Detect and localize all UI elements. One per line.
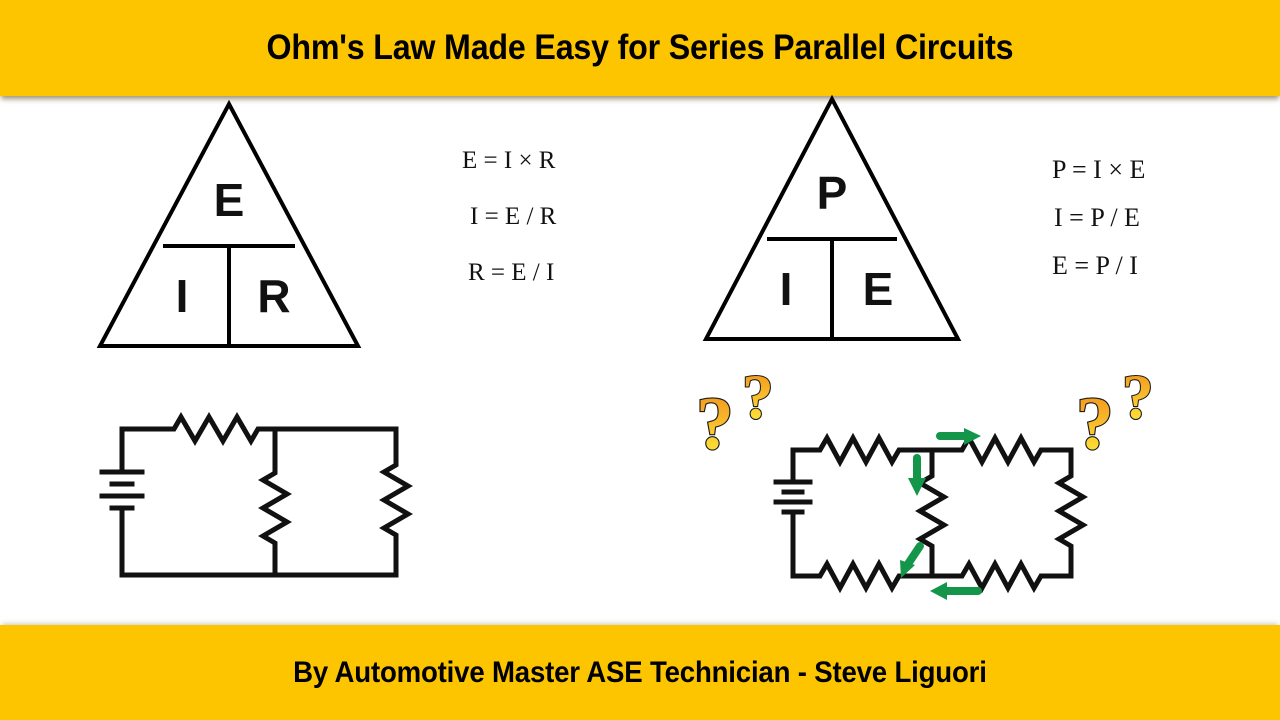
svg-text:?: ? bbox=[696, 383, 734, 466]
formula-p-equals-i-times-e: P = I × E bbox=[1052, 157, 1145, 183]
power-formulas: P = I × E I = P / E E = P / I bbox=[1052, 157, 1145, 301]
current-arrow-down-middle bbox=[908, 458, 926, 496]
triangle-label-top: E bbox=[214, 174, 245, 226]
svg-text:?: ? bbox=[1076, 383, 1114, 466]
question-mark-icon: ? bbox=[696, 383, 734, 466]
triangle-label-bottom-right: R bbox=[257, 270, 290, 322]
formula-i-equals-e-over-r: I = E / R bbox=[470, 204, 556, 229]
formula-e-equals-i-times-r: E = I × R bbox=[462, 148, 556, 173]
current-arrow-right-top bbox=[940, 428, 981, 445]
question-mark-icon: ? bbox=[1076, 383, 1114, 466]
ohms-law-formulas: E = I × R I = E / R R = E / I bbox=[462, 148, 556, 316]
question-mark-icon: ? bbox=[742, 362, 774, 432]
formula-e-equals-p-over-i: E = P / I bbox=[1052, 253, 1145, 279]
triangle-label-bottom-left: I bbox=[780, 263, 793, 315]
formula-i-equals-p-over-e: I = P / E bbox=[1054, 205, 1145, 231]
triangle-label-top: P bbox=[817, 167, 848, 219]
byline-banner: By Automotive Master ASE Technician - St… bbox=[0, 625, 1280, 720]
slide-canvas: Ohm's Law Made Easy for Series Parallel … bbox=[0, 0, 1280, 720]
byline: By Automotive Master ASE Technician - St… bbox=[293, 656, 987, 690]
current-arrow-left-bottom bbox=[930, 582, 978, 600]
question-marks-left: ? ? bbox=[690, 372, 800, 472]
series-parallel-circuit-with-current-arrows bbox=[788, 428, 1088, 593]
power-triangle: P I E bbox=[702, 95, 962, 343]
title-banner: Ohm's Law Made Easy for Series Parallel … bbox=[0, 0, 1280, 96]
battery-symbol bbox=[102, 472, 142, 508]
svg-text:?: ? bbox=[1122, 362, 1154, 432]
triangle-label-bottom-right: E bbox=[863, 263, 894, 315]
page-title: Ohm's Law Made Easy for Series Parallel … bbox=[267, 28, 1014, 68]
svg-text:?: ? bbox=[742, 362, 774, 432]
battery-symbol bbox=[776, 482, 810, 512]
ohms-law-triangle: E I R bbox=[96, 100, 362, 350]
formula-r-equals-e-over-i: R = E / I bbox=[468, 260, 556, 285]
question-mark-icon: ? bbox=[1122, 362, 1154, 432]
current-arrow-down-left-bottom bbox=[900, 546, 920, 578]
triangle-label-bottom-left: I bbox=[176, 270, 189, 322]
question-marks-right: ? ? bbox=[1070, 372, 1180, 472]
series-parallel-circuit-simple bbox=[118, 415, 428, 585]
